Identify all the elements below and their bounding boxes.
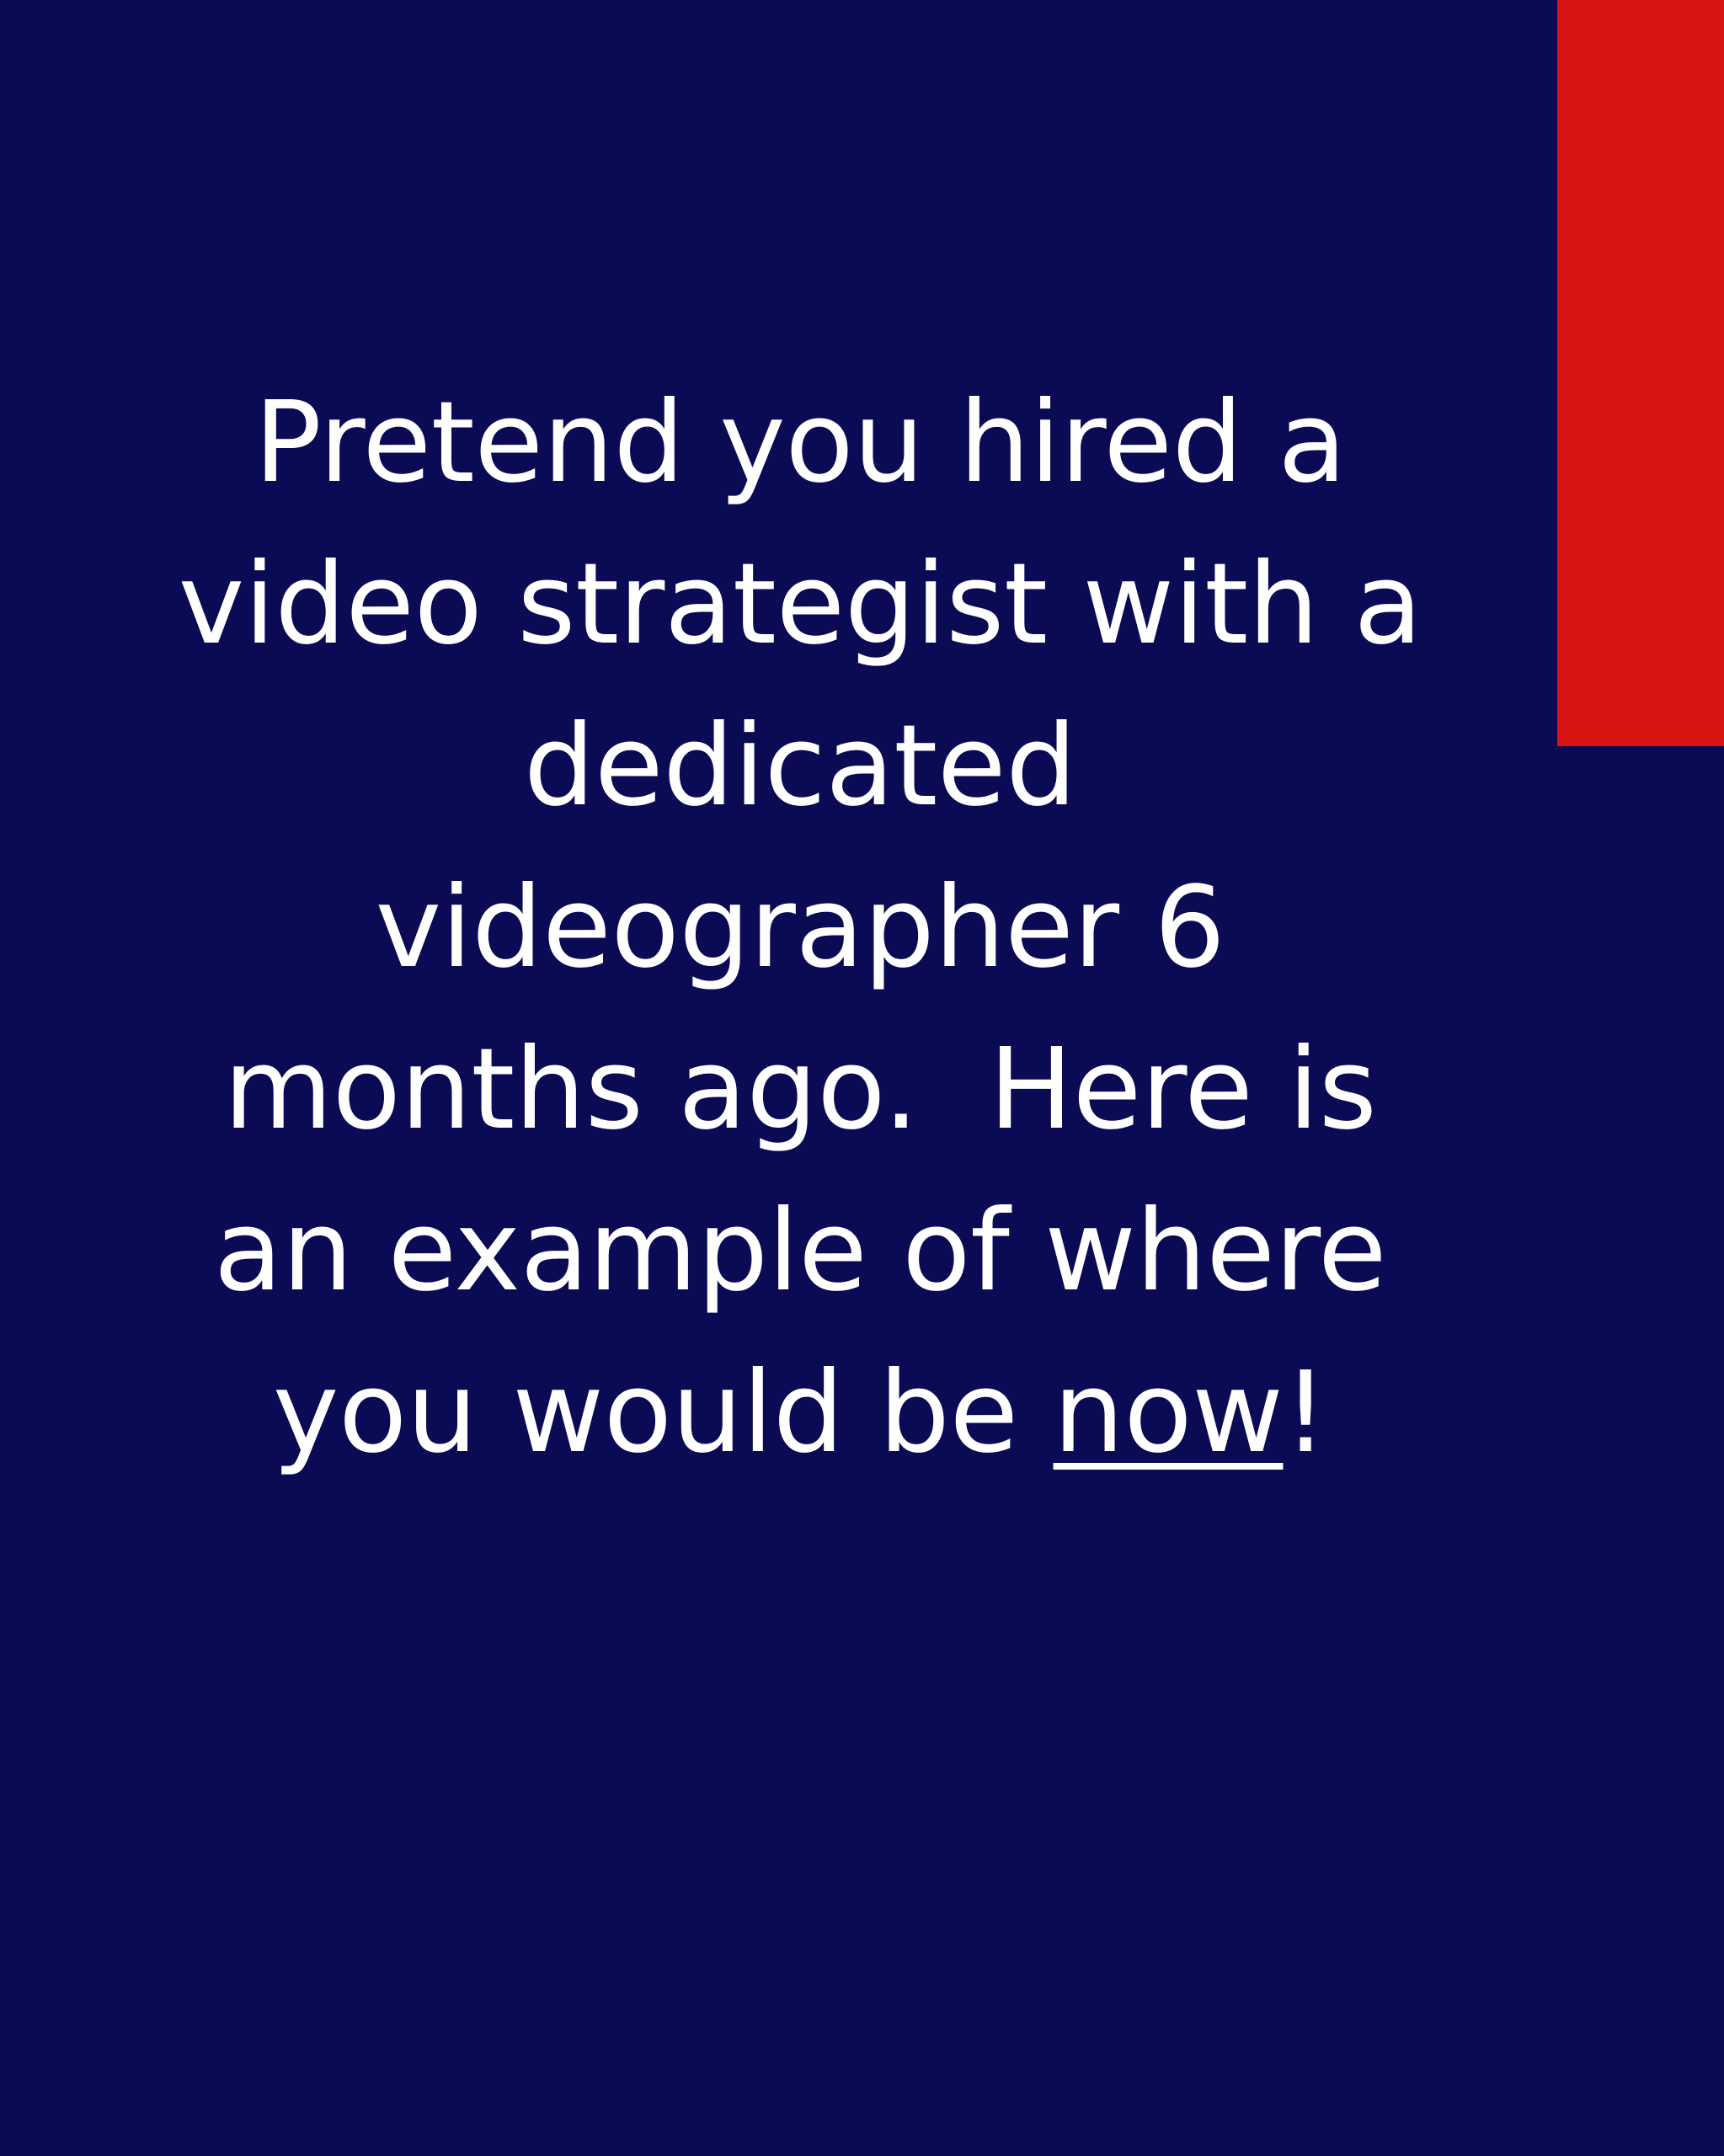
headline-line-7-suffix: ! — [1283, 1348, 1327, 1478]
headline-line-3: dedicated — [0, 686, 1600, 847]
slide-canvas: Pretend you hired a video strategist wit… — [0, 0, 1724, 2156]
headline-line-2: video strategist with a — [0, 524, 1600, 686]
headline-line-6: an example of where — [0, 1171, 1600, 1332]
headline-line-7: you would be now! — [0, 1332, 1600, 1494]
headline-text-block: Pretend you hired a video strategist wit… — [0, 362, 1600, 1494]
headline-line-7-prefix: you would be — [273, 1348, 1054, 1478]
headline-line-1: Pretend you hired a — [0, 362, 1600, 524]
headline-line-5: months ago. Here is — [0, 1009, 1600, 1171]
headline-line-4: videographer 6 — [0, 847, 1600, 1009]
headline-emphasis-now: now — [1054, 1348, 1284, 1478]
